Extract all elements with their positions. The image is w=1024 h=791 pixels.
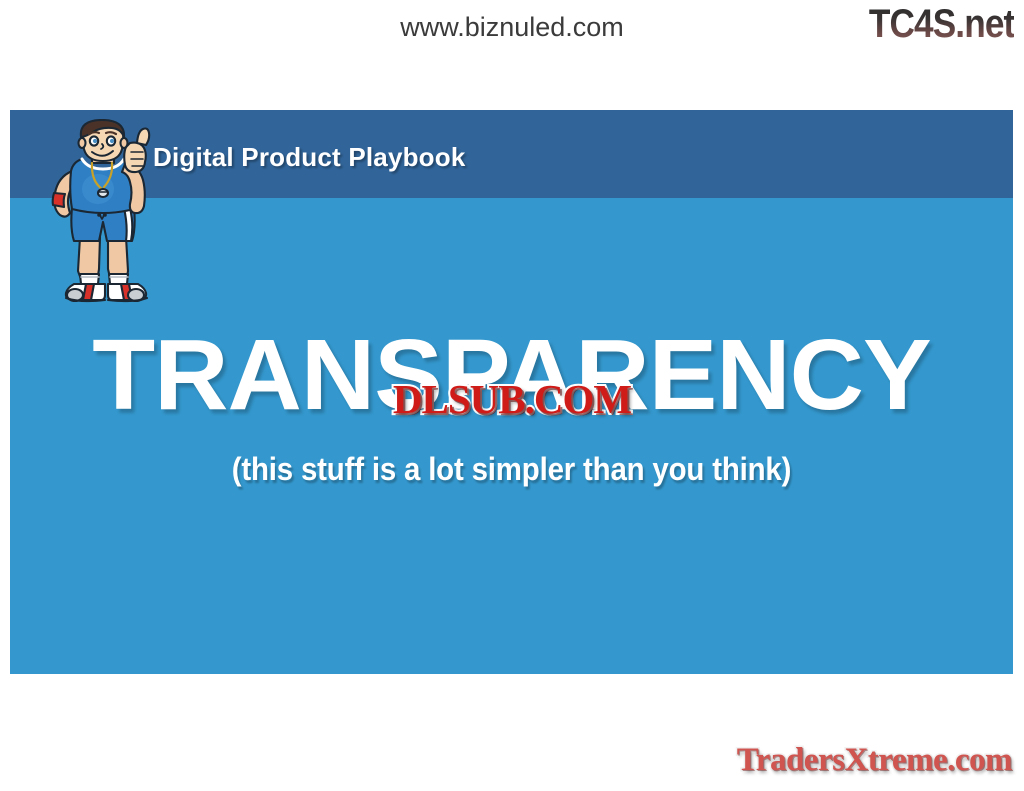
tc4s-brand-logo: TC4S.net: [868, 2, 1014, 47]
tradersxtreme-footer-logo: TradersXtreme.com: [737, 742, 1012, 779]
dlsub-center-watermark: DLSUB.COM: [393, 375, 631, 423]
muscular-coach-thumbs-up-mascot-icon: [42, 119, 160, 304]
slide-page: www.biznuled.com TC4S.net Digital Produc…: [0, 0, 1024, 791]
hero-subtitle: (this stuff is a lot simpler than you th…: [50, 451, 973, 488]
slide-header-title: Digital Product Playbook: [153, 142, 466, 173]
